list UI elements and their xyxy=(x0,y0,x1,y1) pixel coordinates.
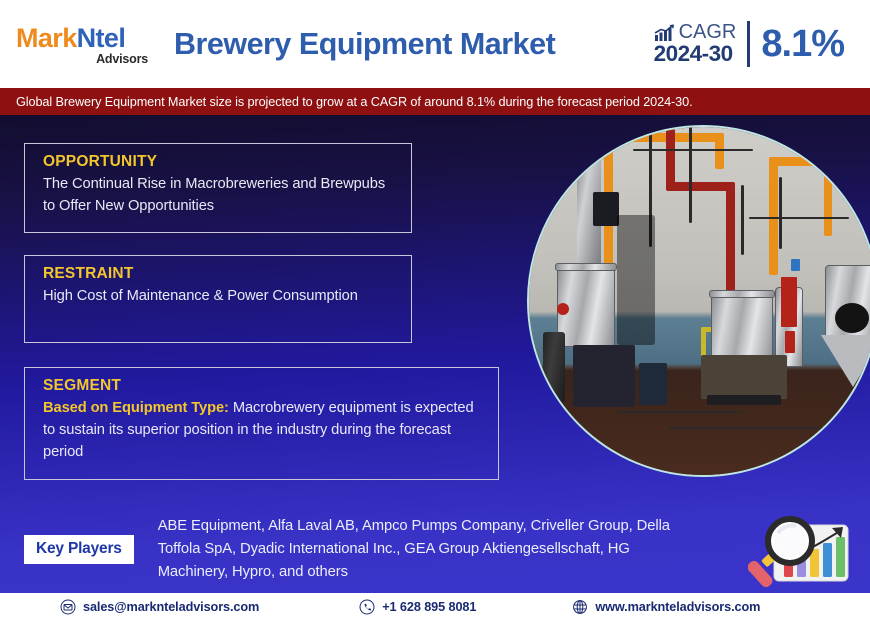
footer-phone-text: +1 628 895 8081 xyxy=(382,600,476,614)
segment-card: SEGMENT Based on Equipment Type: Macrobr… xyxy=(24,367,499,480)
page-title: Brewery Equipment Market xyxy=(156,27,654,62)
key-players-tag: Key Players xyxy=(24,535,134,564)
summary-banner: Global Brewery Equipment Market size is … xyxy=(0,88,870,115)
cagr-divider xyxy=(747,21,750,67)
header: MarkNtel Advisors Brewery Equipment Mark… xyxy=(0,0,870,88)
restraint-card: RESTRAINT High Cost of Maintenance & Pow… xyxy=(24,255,412,343)
envelope-icon xyxy=(60,599,76,615)
logo-ntel-text: Ntel xyxy=(77,23,126,53)
phone-icon xyxy=(359,599,375,615)
markntel-logo[interactable]: MarkNtel Advisors xyxy=(16,23,156,66)
globe-icon xyxy=(572,599,588,615)
brewery-photo-circle xyxy=(527,125,870,477)
footer-website-text: www.marknteladvisors.com xyxy=(595,600,760,614)
key-players-section: Key Players ABE Equipment, Alfa Laval AB… xyxy=(24,515,684,584)
magnifier-bar-chart-icon xyxy=(748,515,860,593)
key-players-list: ABE Equipment, Alfa Laval AB, Ampco Pump… xyxy=(150,515,684,584)
logo-mark-text: Mark xyxy=(16,23,77,53)
cagr-badge: CAGR 2024-30 8.1% xyxy=(654,21,852,67)
footer-email[interactable]: sales@marknteladvisors.com xyxy=(60,599,259,615)
brewery-photo-image xyxy=(529,127,870,475)
logo-subtitle: Advisors xyxy=(16,53,156,66)
cagr-top-row: CAGR xyxy=(654,22,737,42)
bar-chart-growth-icon xyxy=(654,24,676,42)
footer-email-text: sales@marknteladvisors.com xyxy=(83,600,259,614)
opportunity-card: OPPORTUNITY The Continual Rise in Macrob… xyxy=(24,143,412,233)
body-area: OPPORTUNITY The Continual Rise in Macrob… xyxy=(0,115,870,593)
opportunity-heading: OPPORTUNITY xyxy=(43,153,397,171)
opportunity-text: The Continual Rise in Macrobreweries and… xyxy=(43,173,397,217)
restraint-heading: RESTRAINT xyxy=(43,265,397,283)
footer: sales@marknteladvisors.com +1 628 895 80… xyxy=(0,593,870,620)
cagr-label: CAGR xyxy=(679,22,737,42)
cagr-left-block: CAGR 2024-30 xyxy=(654,22,737,66)
logo-wordmark: MarkNtel xyxy=(16,25,156,52)
infographic-root: MarkNtel Advisors Brewery Equipment Mark… xyxy=(0,0,870,620)
segment-text: Based on Equipment Type: Macrobrewery eq… xyxy=(43,397,484,463)
footer-phone[interactable]: +1 628 895 8081 xyxy=(359,599,476,615)
segment-lead-label: Based on Equipment Type: xyxy=(43,400,229,416)
segment-heading: SEGMENT xyxy=(43,377,484,395)
cagr-value: 8.1% xyxy=(761,23,844,66)
footer-website[interactable]: www.marknteladvisors.com xyxy=(572,599,760,615)
cagr-years: 2024-30 xyxy=(654,43,737,66)
restraint-text: High Cost of Maintenance & Power Consump… xyxy=(43,285,397,307)
